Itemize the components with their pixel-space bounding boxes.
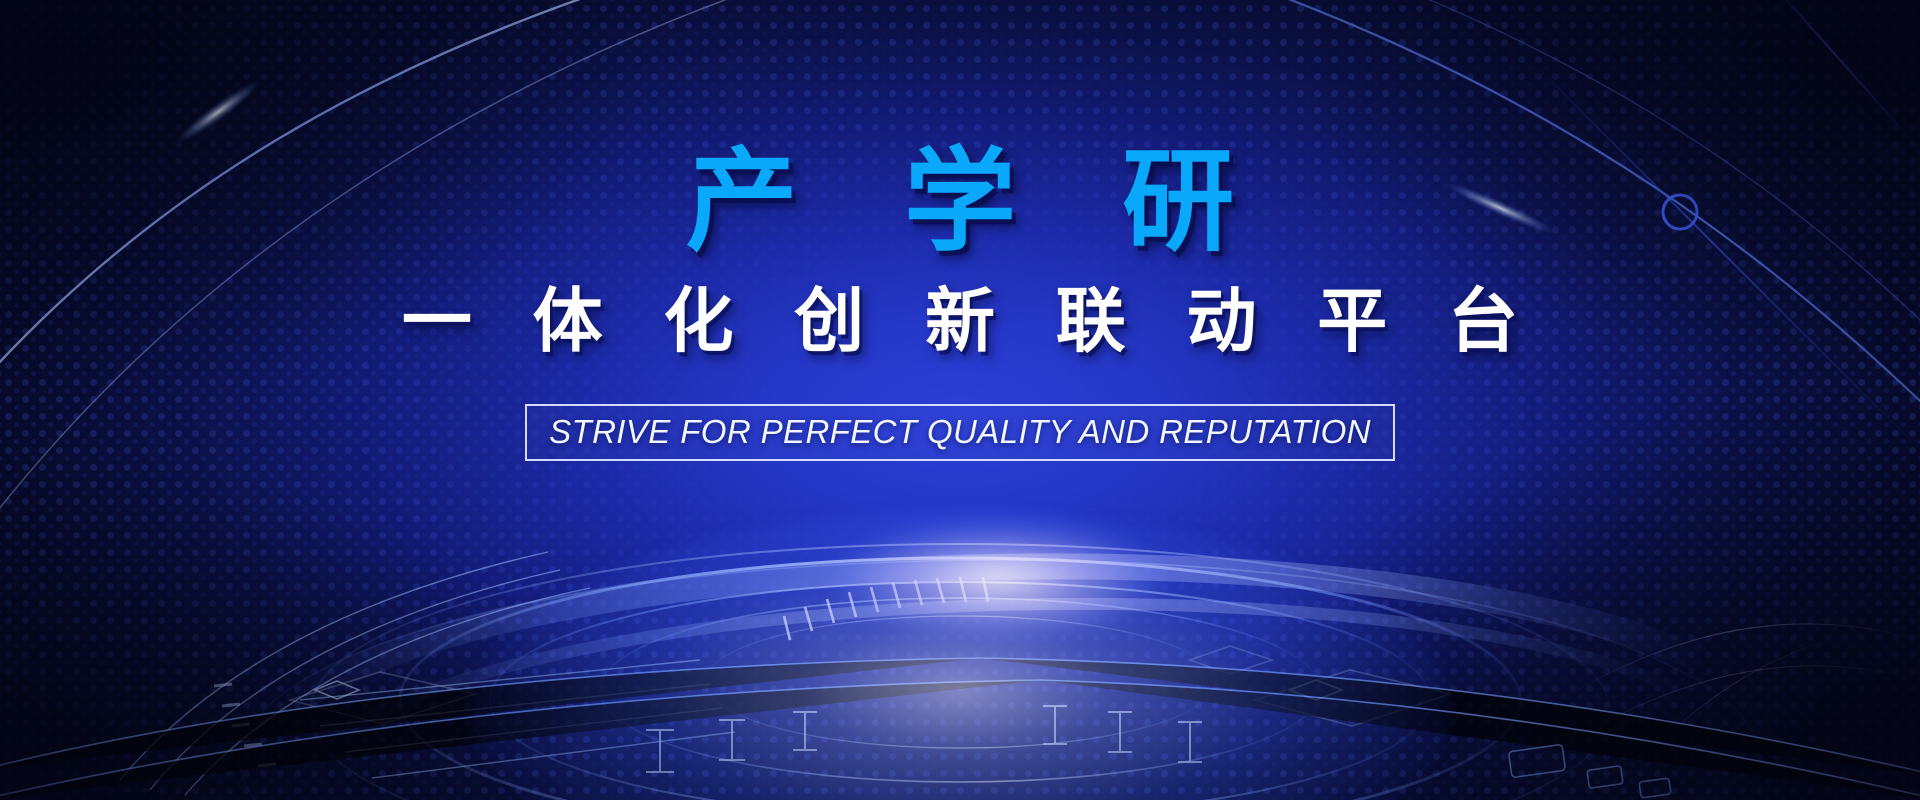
banner-title-main: 产 学 研: [652, 146, 1268, 258]
banner-content: 产 学 研 一 体 化 创 新 联 动 平 台 STRIVE FOR PERFE…: [0, 0, 1920, 800]
tagline-box: STRIVE FOR PERFECT QUALITY AND REPUTATIO…: [525, 404, 1395, 461]
banner-tagline: STRIVE FOR PERFECT QUALITY AND REPUTATIO…: [549, 415, 1371, 448]
hero-banner: 产 学 研 一 体 化 创 新 联 动 平 台 STRIVE FOR PERFE…: [0, 0, 1920, 800]
banner-title-sub: 一 体 化 创 新 联 动 平 台: [384, 286, 1537, 356]
